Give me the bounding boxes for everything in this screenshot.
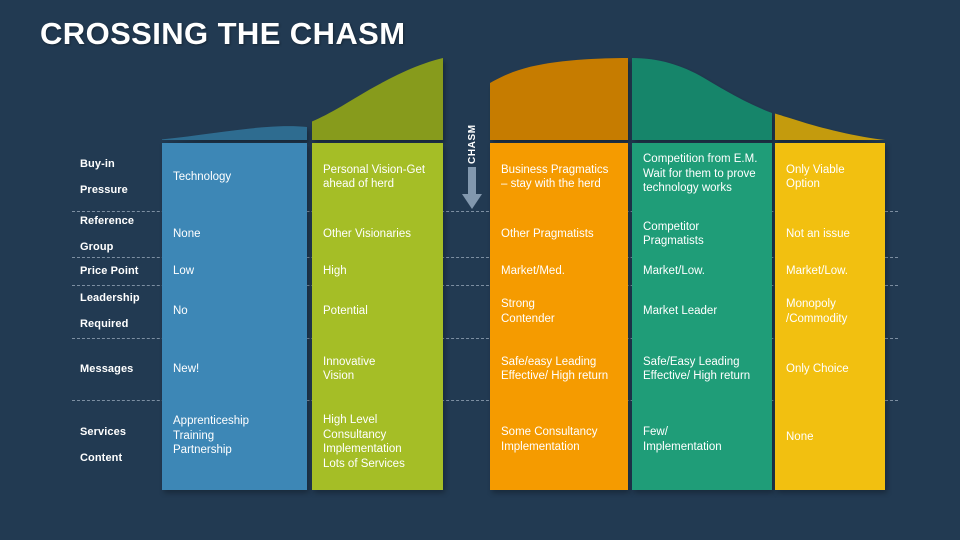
row-label-line: Pressure bbox=[80, 184, 128, 197]
row-label-column: Buy-inPressure ReferenceGroup Price Poin… bbox=[0, 143, 162, 490]
cell-line: Only Viable bbox=[786, 164, 845, 176]
cell-line: Partnership bbox=[173, 444, 232, 456]
cell-line: New! bbox=[173, 363, 199, 375]
cell-line: /Commodity bbox=[786, 313, 847, 325]
cell-line: – stay with the herd bbox=[501, 178, 601, 190]
row-label-price-point: Price Point bbox=[80, 257, 160, 285]
cell-line: Not an issue bbox=[786, 228, 850, 240]
cell-line: Technology bbox=[173, 171, 231, 183]
cell-line: Some Consultancy bbox=[501, 426, 598, 438]
row-label-services-content: ServicesContent bbox=[80, 400, 160, 490]
cell-line: Market/Low. bbox=[643, 265, 705, 277]
cell-line: Strong bbox=[501, 298, 535, 310]
row-label-leadership-required: LeadershipRequired bbox=[80, 285, 160, 338]
cell-line: Effective/ High return bbox=[501, 370, 608, 382]
cell-line: Safe/Easy Leading bbox=[643, 356, 740, 368]
cell: None bbox=[162, 211, 307, 257]
cell: Not an issue bbox=[775, 211, 885, 257]
cell-line: Effective/ High return bbox=[643, 370, 750, 382]
cell-line: Vision bbox=[323, 370, 354, 382]
cell: Business Pragmatics– stay with the herd bbox=[490, 143, 628, 211]
row-label-line: Group bbox=[80, 241, 134, 254]
curve-segment-innovators bbox=[162, 126, 307, 140]
row-label-line: Services bbox=[80, 426, 126, 439]
cell-line: Other Pragmatists bbox=[501, 228, 594, 240]
cell: High bbox=[312, 257, 443, 285]
cell: Personal Vision-Getahead of herd bbox=[312, 143, 443, 211]
cell: Only ViableOption bbox=[775, 143, 885, 211]
cell: Market Leader bbox=[632, 285, 772, 338]
cell: Other Visionaries bbox=[312, 211, 443, 257]
cell-line: Few/ bbox=[643, 426, 668, 438]
cell: Low bbox=[162, 257, 307, 285]
column-visionaries[interactable]: Personal Vision-Getahead of herd Other V… bbox=[312, 143, 443, 490]
cell-line: Safe/easy Leading bbox=[501, 356, 596, 368]
cell-line: Consultancy bbox=[323, 429, 386, 441]
cell: New! bbox=[162, 338, 307, 400]
cell-line: Other Visionaries bbox=[323, 228, 411, 240]
chasm-marker: CHASM bbox=[452, 120, 492, 215]
cell: Market/Med. bbox=[490, 257, 628, 285]
cell: StrongContender bbox=[490, 285, 628, 338]
cell-line: Training bbox=[173, 430, 214, 442]
column-conservatives[interactable]: Competition from E.M.Wait for them to pr… bbox=[632, 143, 772, 490]
cell-line: Apprenticeship bbox=[173, 415, 249, 427]
slide-canvas: CROSSING THE CHASM CHA bbox=[0, 0, 960, 540]
curve-segment-visionaries bbox=[312, 58, 443, 140]
cell: None bbox=[775, 400, 885, 490]
cell-line: Monopoly bbox=[786, 298, 836, 310]
row-label-line: Content bbox=[80, 452, 126, 465]
cell-line: Wait for them to prove bbox=[643, 168, 756, 180]
cell-line: Business Pragmatics bbox=[501, 164, 608, 176]
cell-line: Only Choice bbox=[786, 363, 849, 375]
row-label-line: Leadership bbox=[80, 292, 140, 305]
cell-line: Innovative bbox=[323, 356, 375, 368]
cell-line: High bbox=[323, 265, 347, 277]
cell: Market/Low. bbox=[632, 257, 772, 285]
cell-line: Option bbox=[786, 178, 820, 190]
cell: Market/Low. bbox=[775, 257, 885, 285]
cell-line: Implementation bbox=[643, 441, 722, 453]
cell-line: Pragmatists bbox=[643, 235, 704, 247]
cell: Other Pragmatists bbox=[490, 211, 628, 257]
curve-segment-laggards bbox=[775, 114, 885, 141]
cell: ApprenticeshipTrainingPartnership bbox=[162, 400, 307, 490]
cell: CompetitorPragmatists bbox=[632, 211, 772, 257]
row-label-reference-group: ReferenceGroup bbox=[80, 211, 160, 257]
cell-line: No bbox=[173, 305, 188, 317]
row-label-line: Required bbox=[80, 318, 140, 331]
curve-segment-conservatives bbox=[632, 58, 772, 140]
row-label-line: Buy-in bbox=[80, 158, 128, 171]
cell-line: Contender bbox=[501, 313, 555, 325]
cell: Technology bbox=[162, 143, 307, 211]
chasm-label: CHASM bbox=[467, 120, 478, 164]
row-label-line: Reference bbox=[80, 215, 134, 228]
column-laggards[interactable]: Only ViableOption Not an issue Market/Lo… bbox=[775, 143, 885, 490]
cell-line: Competitor bbox=[643, 221, 699, 233]
cell-line: Personal Vision-Get bbox=[323, 164, 425, 176]
cell-line: Market Leader bbox=[643, 305, 717, 317]
cell-line: ahead of herd bbox=[323, 178, 394, 190]
cell: Safe/Easy LeadingEffective/ High return bbox=[632, 338, 772, 400]
cell: Monopoly/Commodity bbox=[775, 285, 885, 338]
cell-line: Lots of Services bbox=[323, 458, 405, 470]
cell: High LevelConsultancyImplementationLots … bbox=[312, 400, 443, 490]
cell: Only Choice bbox=[775, 338, 885, 400]
cell-line: technology works bbox=[643, 182, 732, 194]
cell: No bbox=[162, 285, 307, 338]
row-label-messages: Messages bbox=[80, 338, 160, 400]
column-pragmatists[interactable]: Business Pragmatics– stay with the herd … bbox=[490, 143, 628, 490]
cell-line: Potential bbox=[323, 305, 368, 317]
column-innovators[interactable]: Technology None Low No New! Apprenticesh… bbox=[162, 143, 307, 490]
cell-line: Competition from E.M. bbox=[643, 153, 757, 165]
cell: Potential bbox=[312, 285, 443, 338]
cell: InnovativeVision bbox=[312, 338, 443, 400]
cell-line: None bbox=[786, 431, 814, 443]
cell: Few/Implementation bbox=[632, 400, 772, 490]
down-arrow-icon bbox=[462, 167, 482, 209]
row-label-line: Price Point bbox=[80, 265, 139, 278]
cell-line: Low bbox=[173, 265, 194, 277]
cell-line: Implementation bbox=[323, 443, 402, 455]
cell: Safe/easy LeadingEffective/ High return bbox=[490, 338, 628, 400]
cell-line: High Level bbox=[323, 414, 377, 426]
cell: Competition from E.M.Wait for them to pr… bbox=[632, 143, 772, 211]
row-label-buyin-pressure: Buy-inPressure bbox=[80, 143, 160, 211]
cell: Some ConsultancyImplementation bbox=[490, 400, 628, 490]
cell-line: None bbox=[173, 228, 201, 240]
cell-line: Market/Low. bbox=[786, 265, 848, 277]
cell-line: Implementation bbox=[501, 441, 580, 453]
row-label-line: Messages bbox=[80, 363, 133, 376]
cell-line: Market/Med. bbox=[501, 265, 565, 277]
curve-segment-pragmatists bbox=[490, 58, 628, 140]
